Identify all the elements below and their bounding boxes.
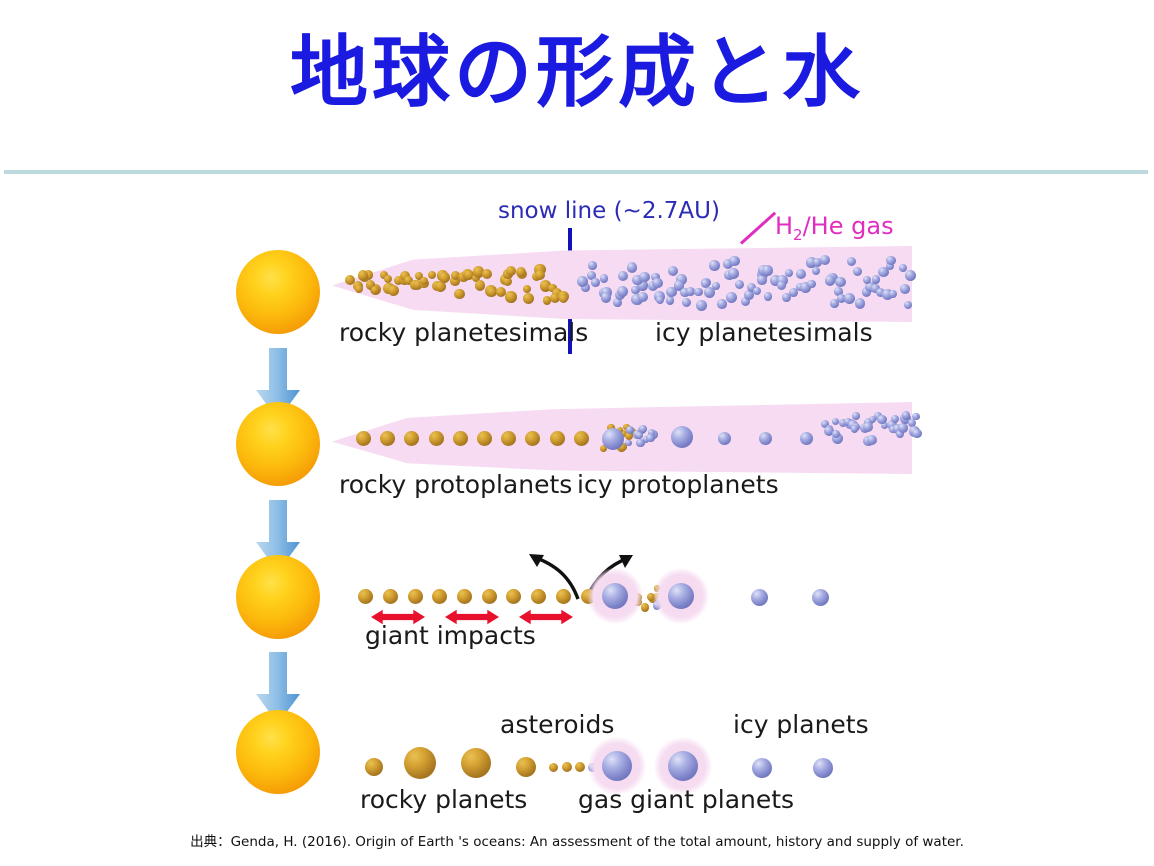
slide-root: 地球の形成と水 snow line (~2.7AU) H2/He gas roc… xyxy=(0,0,1154,866)
rocky-protoplanet xyxy=(432,589,447,604)
icy-planetesimal xyxy=(709,260,719,270)
rocky-planetesimal xyxy=(559,294,568,303)
rocky-protoplanet xyxy=(408,589,423,604)
asteroid xyxy=(575,762,585,772)
icy-planet xyxy=(752,758,772,778)
icy-protoplanet xyxy=(800,432,813,445)
icy-planet xyxy=(813,758,833,778)
formation-diagram: snow line (~2.7AU) H2/He gas rocky plane… xyxy=(0,180,1154,830)
rocky-protoplanet xyxy=(482,589,497,604)
icy-planetesimal xyxy=(847,257,856,266)
icy-planetesimal xyxy=(600,274,609,283)
rocky-planet xyxy=(461,748,491,778)
icy-planetesimal xyxy=(855,298,866,309)
label-giant-impacts: giant impacts xyxy=(365,621,536,650)
icy-planetesimal xyxy=(872,275,880,283)
source-prefix: 出典： xyxy=(190,834,231,850)
icy-planetesimal xyxy=(886,256,895,265)
rocky-planet xyxy=(404,747,436,779)
icy-protoplanet xyxy=(759,432,772,445)
rocky-protoplanet xyxy=(356,431,371,446)
icy-planetesimal xyxy=(757,275,766,284)
rocky-planet xyxy=(516,757,536,777)
icy-debris xyxy=(867,435,877,445)
rocky-protoplanet xyxy=(550,431,565,446)
rocky-protoplanet xyxy=(506,589,521,604)
icy-planetesimal xyxy=(712,282,720,290)
asteroid xyxy=(549,763,558,772)
label-rocky-planets: rocky planets xyxy=(360,785,527,814)
label-icy-planets: icy planets xyxy=(733,710,869,739)
rocky-protoplanet xyxy=(429,431,444,446)
rocky-planetesimal xyxy=(439,272,450,283)
label-rocky-planetesimals: rocky planetesimals xyxy=(339,318,588,347)
label-icy-protoplanets: icy protoplanets xyxy=(577,470,779,499)
icy-planetesimal xyxy=(638,292,648,302)
label-icy-planetesimals: icy planetesimals xyxy=(655,318,873,347)
icy-planetesimal xyxy=(905,270,916,281)
sun-stage-3 xyxy=(236,555,320,639)
gas-label-sub: 2 xyxy=(793,226,803,244)
icy-planetesimal xyxy=(853,267,862,276)
page-title: 地球の形成と水 xyxy=(0,34,1154,112)
icy-planet xyxy=(751,589,768,606)
icy-planetesimal xyxy=(835,277,845,287)
rocky-protoplanet xyxy=(531,589,546,604)
icy-debris xyxy=(636,439,644,447)
icy-planetesimal xyxy=(728,268,739,279)
icy-planetesimal xyxy=(601,292,611,302)
rocky-protoplanet xyxy=(358,589,373,604)
icy-planetesimal xyxy=(900,284,910,294)
rocky-debris xyxy=(641,603,649,611)
icy-planetesimal xyxy=(807,280,815,288)
icy-planetesimal xyxy=(889,290,897,298)
icy-debris xyxy=(902,411,910,419)
sun-stage-4 xyxy=(236,710,320,794)
gas-giant-planet xyxy=(668,583,694,609)
rocky-planetesimal xyxy=(475,280,485,290)
icy-debris xyxy=(891,415,899,423)
sun-stage-1 xyxy=(236,250,320,334)
icy-planetesimal xyxy=(729,256,739,266)
label-gas-giant-planets: gas giant planets xyxy=(578,785,794,814)
icy-debris xyxy=(912,429,922,439)
rocky-planetesimal xyxy=(388,285,399,296)
icy-planetesimal xyxy=(588,261,597,270)
icy-planetesimal xyxy=(591,278,600,287)
icy-planetesimal xyxy=(694,288,703,297)
icy-debris xyxy=(625,440,631,446)
header-divider xyxy=(4,170,1148,174)
icy-planetesimal xyxy=(785,269,793,277)
sun-stage-2 xyxy=(236,402,320,486)
rocky-protoplanet xyxy=(574,431,589,446)
asteroid xyxy=(562,762,572,772)
rocky-planetesimal xyxy=(505,291,516,302)
rocky-planetesimal xyxy=(420,277,428,285)
icy-debris xyxy=(832,430,840,438)
icy-debris xyxy=(646,434,654,442)
gas-leader-line xyxy=(740,212,776,245)
icy-planetesimal xyxy=(682,298,691,307)
icy-planetesimal xyxy=(639,272,650,283)
rocky-protoplanet xyxy=(457,589,472,604)
icy-planet xyxy=(812,589,829,606)
gas-label: H2/He gas xyxy=(775,212,894,244)
rocky-planetesimal xyxy=(523,285,531,293)
rocky-protoplanet xyxy=(383,589,398,604)
icy-planetesimal xyxy=(717,299,727,309)
icy-debris xyxy=(639,425,647,433)
icy-planetesimal xyxy=(726,292,737,303)
icy-protoplanet xyxy=(602,428,624,450)
icy-planetesimal xyxy=(764,292,773,301)
icy-planetesimal xyxy=(666,296,674,304)
icy-planetesimal xyxy=(753,287,761,295)
icy-planetesimal xyxy=(762,265,772,275)
icy-planetesimal xyxy=(844,293,855,304)
rocky-planetesimal xyxy=(535,270,545,280)
icy-planetesimal xyxy=(656,296,664,304)
icy-planetesimal xyxy=(652,278,662,288)
label-rocky-protoplanets: rocky protoplanets xyxy=(339,470,572,499)
gas-label-rest: /He gas xyxy=(803,212,894,240)
rocky-protoplanet xyxy=(556,589,571,604)
gas-label-main: H xyxy=(775,212,793,240)
rocky-planet xyxy=(365,758,383,776)
icy-debris xyxy=(852,412,860,420)
icy-planetesimal xyxy=(825,275,835,285)
label-asteroids: asteroids xyxy=(500,710,614,739)
icy-planetesimal xyxy=(777,281,786,290)
snow-line-label: snow line (~2.7AU) xyxy=(498,198,720,224)
icy-protoplanet xyxy=(671,426,693,448)
rocky-planetesimal xyxy=(371,286,379,294)
icy-debris xyxy=(912,413,919,420)
icy-debris xyxy=(898,423,908,433)
icy-planetesimal xyxy=(627,262,637,272)
rocky-protoplanet xyxy=(477,431,492,446)
icy-protoplanet xyxy=(718,432,731,445)
gas-giant-planet xyxy=(602,751,632,781)
gas-giant-planet xyxy=(602,583,628,609)
source-citation: 出典：Genda, H. (2016). Origin of Earth 's … xyxy=(0,830,1154,850)
gas-giant-planet xyxy=(668,751,698,781)
rocky-protoplanet xyxy=(453,431,468,446)
source-text: Genda, H. (2016). Origin of Earth 's oce… xyxy=(231,834,964,850)
